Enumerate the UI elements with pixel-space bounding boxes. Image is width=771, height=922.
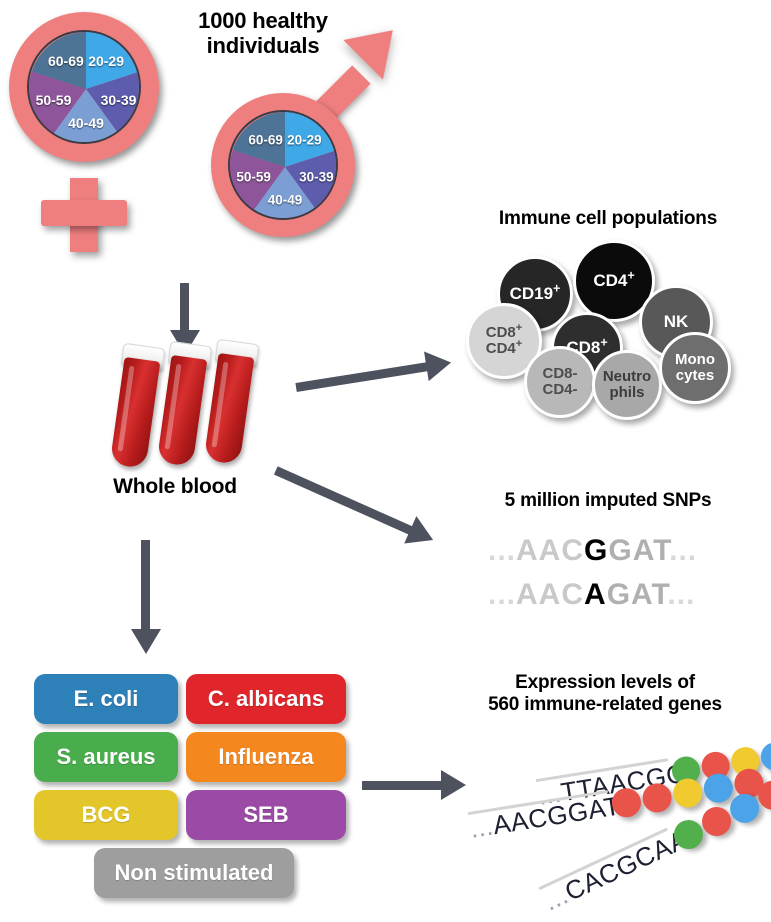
pie-label-30-39: 30-39 bbox=[101, 92, 137, 108]
snp-left-bases: AAC bbox=[516, 534, 584, 567]
stimulant-label: C. albicans bbox=[208, 686, 324, 712]
strand-sequence: ...CACGCAA bbox=[539, 824, 693, 918]
stimulant-label: Influenza bbox=[218, 744, 313, 770]
whole-blood-label: Whole blood bbox=[85, 475, 265, 499]
snp-trailing-dots: ... bbox=[669, 534, 697, 567]
immune-cell-label: CD4+ bbox=[593, 272, 634, 290]
pie-label-60-69: 60-69 bbox=[48, 53, 84, 69]
snp-leading-dots: ... bbox=[488, 578, 516, 611]
pie-label-50-59: 50-59 bbox=[236, 170, 271, 185]
male-age-pie: 20-2930-3940-4950-5960-69 bbox=[228, 110, 338, 220]
stimulant-label: SEB bbox=[243, 802, 288, 828]
arrow-blood-to-snp bbox=[270, 456, 442, 555]
immune-cell-label: CD8+CD4+ bbox=[486, 325, 523, 357]
tube-body bbox=[110, 357, 161, 469]
tube-body bbox=[157, 355, 208, 467]
blood-tube bbox=[204, 339, 257, 465]
pie-label-40-49: 40-49 bbox=[68, 115, 104, 131]
stimulant-seb[interactable]: SEB bbox=[186, 790, 346, 840]
gene-strand: ...CACGCAA bbox=[537, 884, 554, 920]
stimulant-influenza[interactable]: Influenza bbox=[186, 732, 346, 782]
tube-body bbox=[204, 353, 255, 465]
snp-sequence-row: ...AACAGAT... bbox=[488, 578, 695, 612]
snp-variant-base: A bbox=[584, 578, 607, 611]
stimulant-label: BCG bbox=[82, 802, 131, 828]
pie-label-50-59: 50-59 bbox=[36, 92, 72, 108]
female-crossbar bbox=[41, 200, 127, 226]
immune-cell-label: CD19+ bbox=[510, 285, 561, 303]
immune-populations-title: Immune cell populations bbox=[448, 208, 768, 230]
cohort-title: 1000 healthy individuals bbox=[168, 8, 358, 59]
stimulant-label: Non stimulated bbox=[115, 860, 274, 886]
pie-label-60-69: 60-69 bbox=[248, 133, 283, 148]
figure-canvas: 1000 healthy individuals 20-2930-3940-49… bbox=[0, 0, 771, 922]
gene-bead-blue bbox=[759, 740, 771, 772]
stimulant-s-aureus[interactable]: S. aureus bbox=[34, 732, 178, 782]
immune-cell-monocytes: Monocytes bbox=[659, 332, 731, 404]
immune-cell-neutrophils: Neutrophils bbox=[592, 350, 662, 420]
snp-variant-base: G bbox=[584, 534, 608, 567]
stimulant-label: E. coli bbox=[74, 686, 139, 712]
female-age-pie: 20-2930-3940-4950-5960-69 bbox=[27, 30, 141, 144]
arrow-blood-to-immune bbox=[294, 347, 457, 402]
snp-left-bases: AAC bbox=[516, 578, 584, 611]
snp-title: 5 million imputed SNPs bbox=[448, 490, 768, 512]
blood-tube bbox=[110, 343, 163, 469]
gene-strand: ...AACGGAT bbox=[467, 808, 473, 848]
immune-cell-cd8-cd4: CD8-CD4- bbox=[524, 346, 596, 418]
immune-cell-label: Neutrophils bbox=[603, 369, 651, 401]
snp-trailing-dots: ... bbox=[667, 578, 695, 611]
pie-label-30-39: 30-39 bbox=[299, 170, 334, 185]
pie-label-20-29: 20-29 bbox=[287, 133, 322, 148]
snp-right-bases: GAT bbox=[608, 534, 669, 567]
immune-cell-label: CD8-CD4- bbox=[542, 366, 577, 398]
pie-label-20-29: 20-29 bbox=[88, 53, 124, 69]
immune-cell-label: NK bbox=[664, 313, 689, 331]
arrow-blood-to-stimulants bbox=[131, 540, 161, 655]
stimulant-bcg[interactable]: BCG bbox=[34, 790, 178, 840]
stimulant-non-stimulated[interactable]: Non stimulated bbox=[94, 848, 294, 898]
stimulant-c-albicans[interactable]: C. albicans bbox=[186, 674, 346, 724]
snp-sequence-row: ...AACGGAT... bbox=[488, 534, 697, 568]
stimulant-e-coli[interactable]: E. coli bbox=[34, 674, 178, 724]
strand-dots: ... bbox=[468, 811, 496, 844]
pie-label-40-49: 40-49 bbox=[268, 193, 303, 208]
immune-cell-label: Monocytes bbox=[675, 352, 715, 384]
blood-tube bbox=[157, 341, 210, 467]
stimulant-label: S. aureus bbox=[56, 744, 155, 770]
snp-leading-dots: ... bbox=[488, 534, 516, 567]
expression-title: Expression levels of 560 immune-related … bbox=[440, 672, 770, 716]
snp-right-bases: GAT bbox=[607, 578, 668, 611]
arrow-stimulants-to-expression bbox=[362, 770, 472, 800]
